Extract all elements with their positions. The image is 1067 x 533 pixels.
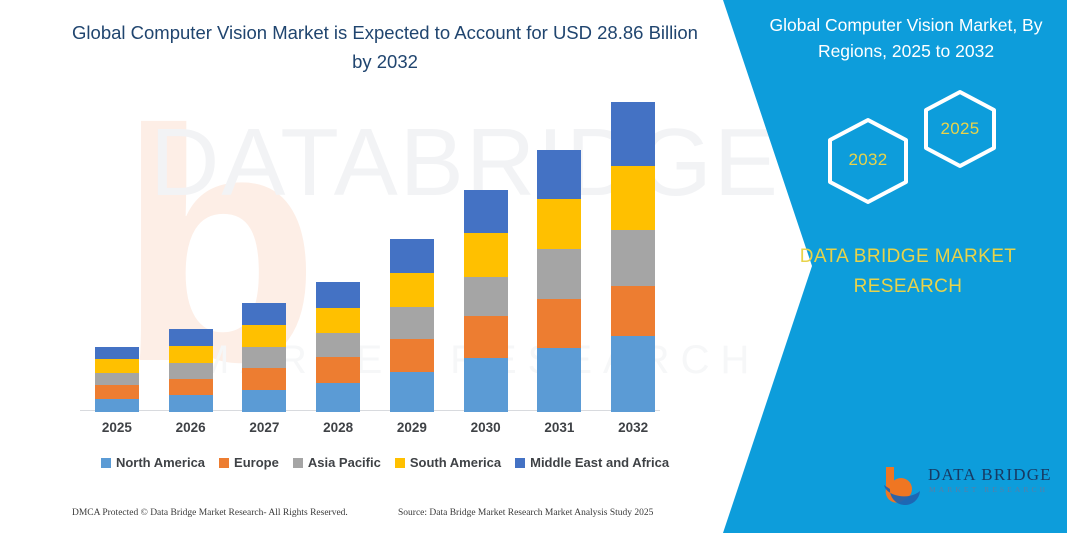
data-bridge-logo-icon <box>882 461 926 505</box>
logo-tagline: MARKET RESEARCH <box>929 485 1048 494</box>
hexagon-label-2032: 2032 <box>841 150 895 170</box>
panel-title: Global Computer Vision Market, By Region… <box>760 12 1052 64</box>
hexagon-label-2025: 2025 <box>933 119 987 139</box>
logo: DATA BRIDGE MARKET RESEARCH <box>882 461 1057 507</box>
logo-name: DATA BRIDGE <box>928 465 1052 485</box>
brand-name: DATA BRIDGE MARKET RESEARCH <box>762 242 1054 302</box>
hexagon-badges: 2032 2025 <box>820 88 1000 204</box>
infographic-root: b DATABRIDGE ® MARKET RESEARCH Global Co… <box>0 0 1067 533</box>
